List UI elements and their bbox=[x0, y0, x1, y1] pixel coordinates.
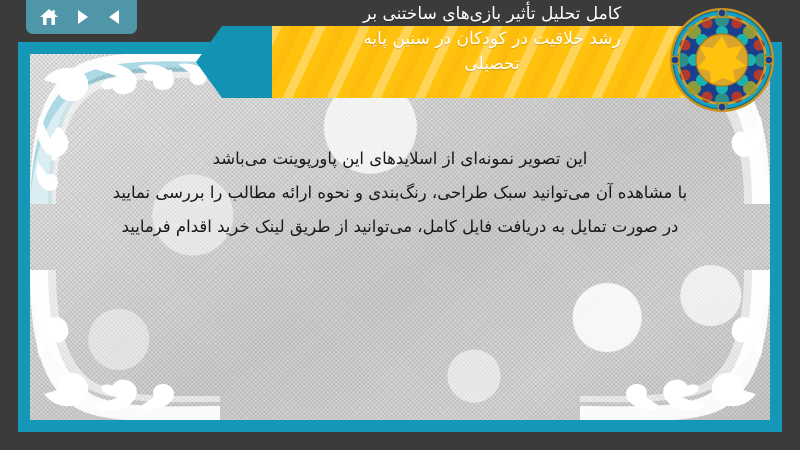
prev-button[interactable] bbox=[101, 4, 129, 30]
body-line: در صورت تمایل به دریافت فایل کامل، می‌تو… bbox=[68, 210, 732, 244]
body-line: این تصویر نمونه‌ای از اسلایدهای این پاور… bbox=[68, 142, 732, 176]
prev-triangle-icon bbox=[106, 8, 124, 26]
home-button[interactable] bbox=[35, 4, 63, 30]
body-line: با مشاهده آن می‌توانید سبک طراحی، رنگ‌بن… bbox=[68, 176, 732, 210]
next-triangle-icon bbox=[73, 8, 91, 26]
slide-body: این تصویر نمونه‌ای از اسلایدهای این پاور… bbox=[68, 142, 732, 244]
slide-viewer: این تصویر نمونه‌ای از اسلایدهای این پاور… bbox=[0, 0, 800, 450]
home-icon bbox=[39, 8, 59, 27]
title-line: کامل تحلیل تأثیر بازی‌های ساختنی بر bbox=[274, 2, 710, 27]
persian-mandala-medallion-icon bbox=[666, 4, 778, 116]
title-line: تحصیلی bbox=[274, 52, 710, 77]
next-button[interactable] bbox=[68, 4, 96, 30]
page-title: کامل تحلیل تأثیر بازی‌های ساختنی بر رشد … bbox=[274, 2, 710, 77]
navigation-toolbar bbox=[26, 0, 137, 34]
title-line: رشد خلاقیت در کودکان در سنین پایه bbox=[274, 27, 710, 52]
